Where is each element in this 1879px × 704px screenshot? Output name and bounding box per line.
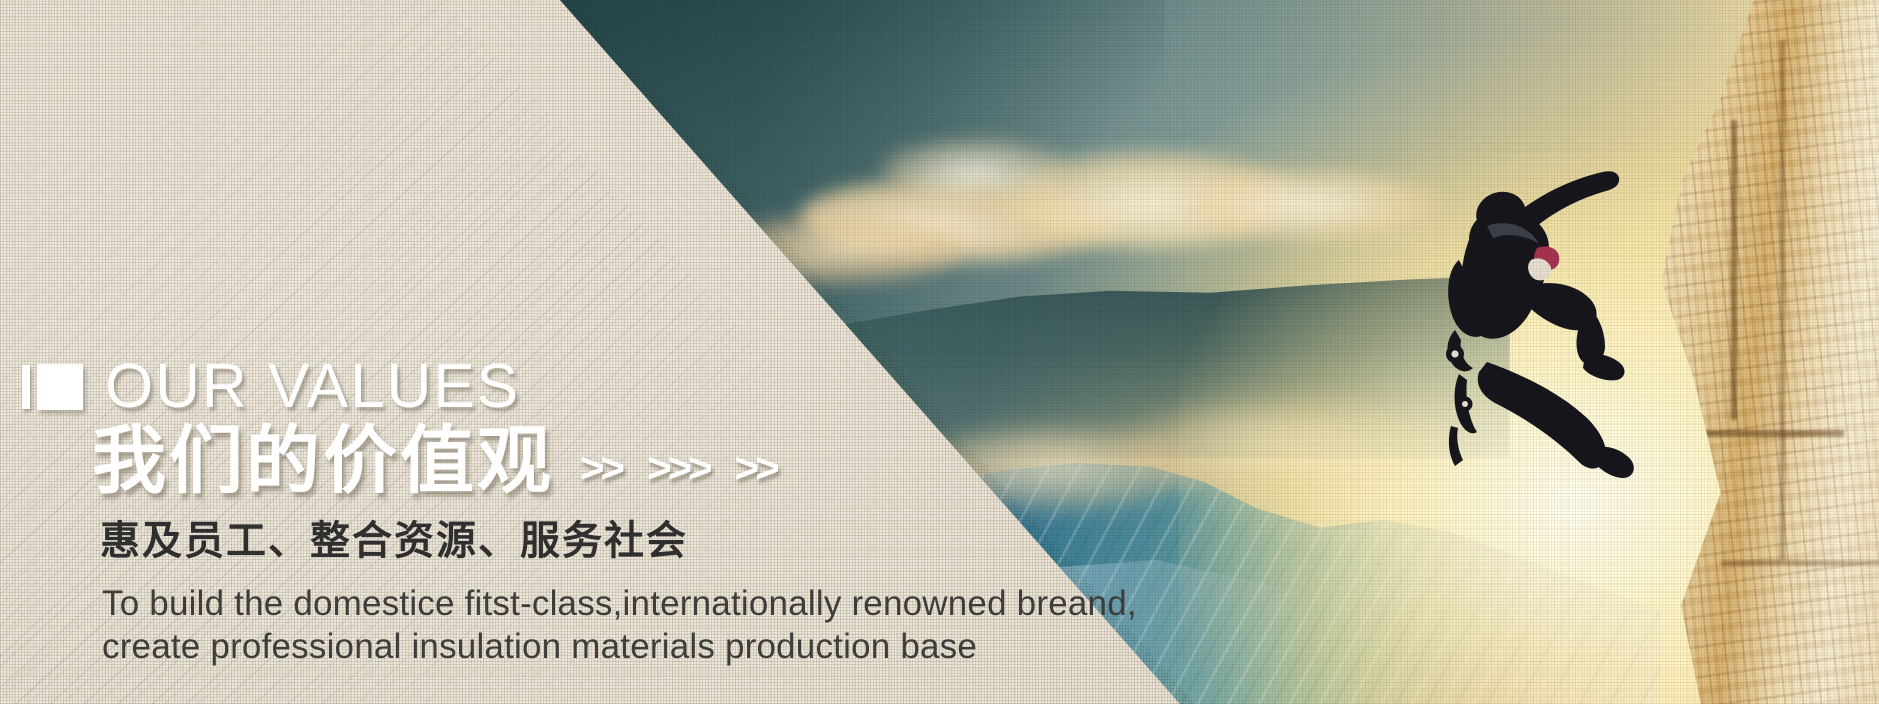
- heading-chinese: 我们的价值观: [92, 424, 554, 498]
- chevron-group-3: >>: [735, 447, 776, 489]
- rock-patch: [939, 528, 977, 543]
- our-values-banner: OUR VALUES 我们的价值观 >> >>> >> 惠及员工、整合资源、服务…: [0, 0, 1879, 704]
- heading-row: OUR VALUES: [22, 356, 520, 418]
- tagline-english: To build the domestice fitst-class,inter…: [102, 582, 1137, 669]
- cloud-4: [700, 215, 960, 285]
- chevron-group-1: >>: [580, 447, 621, 489]
- bar-and-square-mark-icon: [22, 364, 83, 410]
- cloud-3: [1180, 168, 1440, 242]
- tagline-english-line-1: To build the domestice fitst-class,inter…: [102, 582, 1137, 625]
- rock-climber-icon: [1425, 148, 1685, 508]
- cloud-7: [1120, 405, 1460, 491]
- rock-patch: [833, 444, 889, 464]
- mark-square-icon: [37, 364, 83, 410]
- cloud-5: [880, 140, 1070, 196]
- mark-bar-icon: [22, 365, 30, 409]
- tagline-chinese: 惠及员工、整合资源、服务社会: [100, 521, 688, 561]
- chevron-group-2: >>>: [647, 447, 709, 489]
- subheading-row: 我们的价值观 >> >>> >>: [92, 424, 776, 498]
- rock-patch: [897, 471, 941, 497]
- rock-patch: [865, 505, 927, 523]
- chevron-arrows: >> >>> >>: [580, 447, 776, 498]
- tagline-english-line-2: create professional insulation materials…: [102, 625, 1137, 668]
- heading-english: OUR VALUES: [105, 356, 520, 418]
